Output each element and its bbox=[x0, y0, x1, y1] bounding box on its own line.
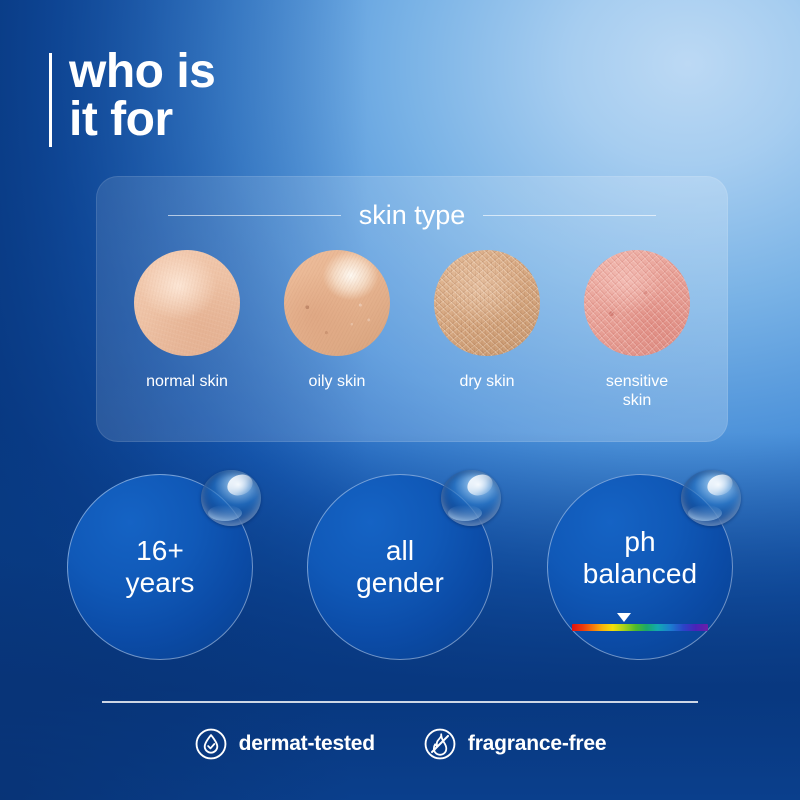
ph-marker-arrow-icon bbox=[617, 613, 631, 622]
skin-type-item-normal[interactable]: normal skin bbox=[121, 250, 253, 392]
skin-type-item-sensitive[interactable]: sensitive skin bbox=[571, 250, 703, 410]
normal-skin-swatch bbox=[134, 250, 240, 356]
skin-type-label: dry skin bbox=[459, 373, 514, 392]
skin-type-label: oily skin bbox=[309, 373, 366, 392]
bubble-label: all gender bbox=[356, 535, 444, 600]
title-rule-left bbox=[168, 215, 341, 216]
dry-skin-texture bbox=[434, 250, 540, 356]
ph-scale bbox=[572, 624, 708, 631]
attribute-bubble-gender[interactable]: all gender bbox=[307, 474, 493, 660]
attribute-bubble-age[interactable]: 16+ years bbox=[67, 474, 253, 660]
title-accent-bar bbox=[49, 53, 52, 147]
attribute-bubble-list: 16+ years all gender ph balanced bbox=[0, 474, 800, 664]
water-droplet-icon bbox=[201, 470, 261, 526]
title-line-2: it for bbox=[69, 96, 215, 144]
claim-badge-label: dermat-tested bbox=[239, 732, 375, 756]
attribute-bubble-ph[interactable]: ph balanced bbox=[547, 474, 733, 660]
droplet-check-icon bbox=[194, 727, 228, 761]
ph-gradient-bar bbox=[572, 624, 708, 631]
title-text-block: who is it for bbox=[69, 48, 215, 143]
skin-type-card: skin type normal skin oily skin dry skin bbox=[96, 176, 728, 442]
footer-divider bbox=[102, 701, 698, 703]
skin-type-label: normal skin bbox=[146, 373, 228, 392]
oily-skin-texture bbox=[284, 250, 390, 356]
title-rule-right bbox=[483, 215, 656, 216]
skin-type-title-row: skin type bbox=[168, 202, 656, 229]
skin-type-item-dry[interactable]: dry skin bbox=[421, 250, 553, 392]
page-title: who is it for bbox=[49, 48, 215, 147]
water-droplet-icon bbox=[441, 470, 501, 526]
bubble-label: 16+ years bbox=[126, 535, 195, 600]
no-fragrance-icon bbox=[423, 727, 457, 761]
title-line-1: who is bbox=[69, 48, 215, 96]
claim-badge-label: fragrance-free bbox=[468, 732, 606, 756]
skin-type-item-oily[interactable]: oily skin bbox=[271, 250, 403, 392]
water-droplet-icon bbox=[681, 470, 741, 526]
skin-type-list: normal skin oily skin dry skin sensitive… bbox=[112, 250, 712, 410]
claim-badge-fragrance-free[interactable]: fragrance-free bbox=[423, 727, 606, 761]
skin-type-label: sensitive skin bbox=[592, 373, 682, 410]
claim-badge-dermat-tested[interactable]: dermat-tested bbox=[194, 727, 375, 761]
oily-skin-swatch bbox=[284, 250, 390, 356]
normal-skin-texture bbox=[134, 250, 240, 356]
skin-type-title: skin type bbox=[359, 202, 466, 229]
dry-skin-swatch bbox=[434, 250, 540, 356]
claim-badge-list: dermat-tested fragrance-free bbox=[0, 727, 800, 761]
sensitive-skin-texture bbox=[584, 250, 690, 356]
sensitive-skin-swatch bbox=[584, 250, 690, 356]
bubble-label: ph balanced bbox=[583, 526, 697, 591]
